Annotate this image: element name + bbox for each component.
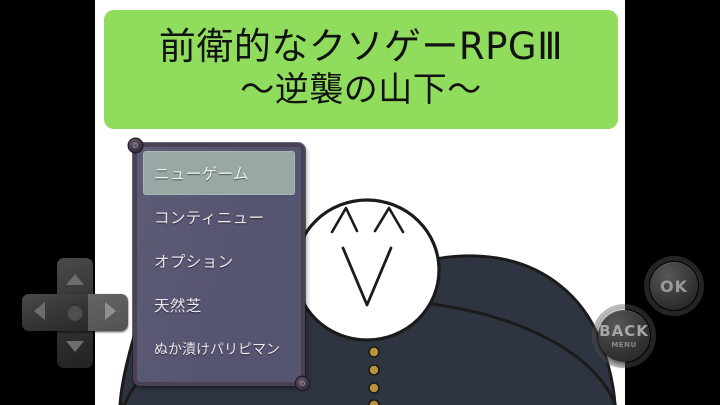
menu-item-nukazuke-paripiman[interactable]: ぬか漬けパリピマン [143, 327, 295, 371]
menu-item-new-game[interactable]: ニューゲーム [143, 151, 295, 195]
dpad-right-icon[interactable] [105, 302, 116, 320]
game-title-subtitle: 〜逆襲の山下〜 [240, 73, 482, 107]
menu-item-label: オプション [154, 250, 234, 272]
dpad-left-icon[interactable] [34, 302, 45, 320]
character-buttons [369, 347, 379, 405]
menu-item-label: ニューゲーム [154, 162, 249, 184]
ok-button[interactable]: OK [650, 262, 698, 310]
dpad-up-icon[interactable] [66, 274, 84, 285]
menu-item-tennenshiba[interactable]: 天然芝 [143, 283, 295, 327]
menu-item-label: 天然芝 [154, 294, 202, 316]
dpad-center-icon [67, 304, 83, 321]
menu-item-label: コンティニュー [154, 206, 264, 228]
character-eye-right [375, 208, 403, 232]
character-head [295, 200, 439, 340]
back-button-ring [592, 304, 656, 368]
game-screen: 前衛的なクソゲーRPGⅢ 〜逆襲の山下〜 ニューゲーム コンティニュー オプショ… [0, 0, 720, 405]
title-banner: 前衛的なクソゲーRPGⅢ 〜逆襲の山下〜 [104, 10, 618, 129]
corner-ornament-bottom-right-icon [296, 377, 309, 390]
menu-item-label: ぬか漬けパリピマン [154, 339, 280, 359]
character-mouth [343, 248, 391, 305]
menu-item-continue[interactable]: コンティニュー [143, 195, 295, 239]
back-button[interactable]: BACK MENU [598, 310, 650, 362]
dpad-down-icon[interactable] [66, 341, 84, 352]
game-viewport: 前衛的なクソゲーRPGⅢ 〜逆襲の山下〜 ニューゲーム コンティニュー オプショ… [95, 0, 625, 405]
game-title-main: 前衛的なクソゲーRPGⅢ [159, 28, 563, 65]
ok-button-ring [644, 256, 704, 316]
dpad[interactable] [22, 258, 128, 368]
character-eye-left [332, 208, 357, 232]
corner-ornament-top-left-icon [129, 139, 142, 152]
menu-item-options[interactable]: オプション [143, 239, 295, 283]
main-menu-window: ニューゲーム コンティニュー オプション 天然芝 ぬか漬けパリピマン [133, 143, 305, 386]
